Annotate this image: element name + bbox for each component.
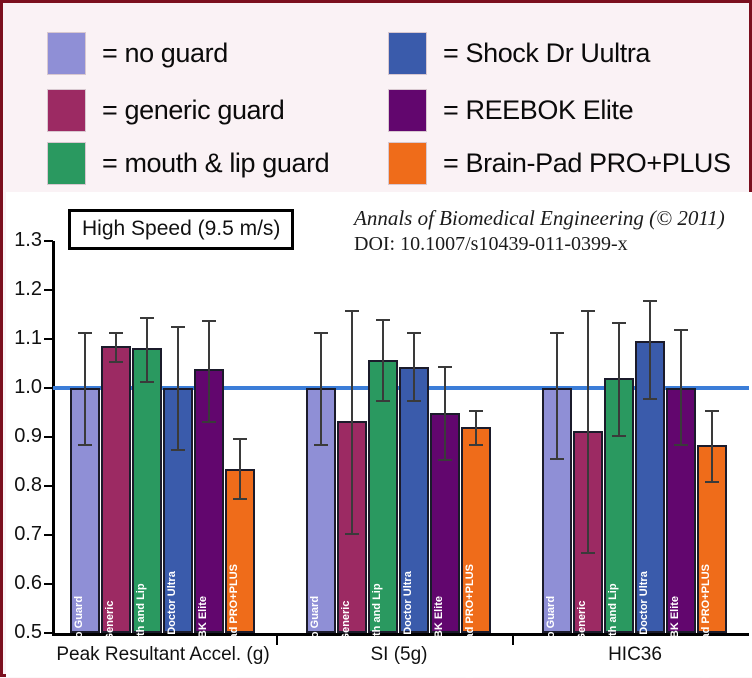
legend-item-reebok: = REEBOK Elite [388,89,633,132]
error-bar-cap-lower [705,481,719,483]
error-bar-line [115,332,117,361]
error-bar-cap-upper [643,300,657,302]
y-tick-label: 0.9 [6,426,42,446]
error-bar-line [649,300,651,398]
legend-label-brain_pad: = Brain-Pad PRO+PLUS [443,148,731,179]
error-bar-line [320,332,322,445]
error-bar-cap-lower [140,381,154,383]
bar-inline-label: No Guard [545,596,557,646]
error-bar-line [587,310,589,553]
error-bar-cap-lower [469,444,483,446]
y-tick-label: 1.1 [6,328,42,348]
error-bar-cap-lower [202,421,216,423]
error-bar-cap-lower [376,400,390,402]
bar-inline-label: No Guard [309,596,321,646]
figure-root: = no guard= generic guard= mouth & lip g… [0,0,752,677]
error-bar-line [475,410,477,444]
legend-item-mouth_lip: = mouth & lip guard [47,142,329,185]
error-bar-cap-lower [109,361,123,363]
error-bar-cap-upper [612,322,626,324]
error-bar-cap-lower [550,458,564,460]
error-bar-line [84,332,86,445]
error-bar-cap-lower [314,444,328,446]
legend-label-mouth_lip: = mouth & lip guard [102,148,329,179]
legend-swatch-no_guard [47,32,86,75]
error-bar-line [146,317,148,381]
bar-inline-label: No Guard [73,596,85,646]
error-bar-cap-lower [407,400,421,402]
legend-swatch-reebok [388,89,427,132]
legend-swatch-generic [47,89,86,132]
error-bar-line [208,320,210,421]
error-bar-line [177,326,179,449]
bar-1-mouth-and-lip: Mouth and Lip [132,348,162,633]
error-bar-line [382,319,384,400]
error-bar-line [413,332,415,401]
legend-item-shock_dr: = Shock Dr Uultra [388,32,650,75]
legend-panel: = no guard= generic guard= mouth & lip g… [3,3,749,189]
x-axis-line [52,633,749,636]
error-bar-line [556,332,558,458]
error-bar-cap-upper [674,329,688,331]
legend-swatch-mouth_lip [47,142,86,185]
y-tick-label: 1.2 [6,279,42,299]
x-axis-group-label: HIC36 [487,644,752,666]
y-tick-mark [44,387,53,389]
y-tick-mark [44,338,53,340]
x-tick-mark [512,636,514,645]
y-tick-label: 0.8 [6,475,42,495]
plot-area: 1.31.21.11.00.90.80.70.60.5No GuardGener… [6,192,752,677]
citation-journal: Annals of Biomedical Engineering (© 2011… [354,206,748,231]
error-bar-line [239,438,241,498]
error-bar-cap-upper [705,410,719,412]
y-tick-label: 0.7 [6,524,42,544]
y-tick-label: 0.6 [6,573,42,593]
bar-inline-label: RBK Elite [669,596,681,646]
citation-doi: DOI: 10.1007/s10439-011-0399-x [354,233,748,256]
error-bar-cap-upper [78,332,92,334]
bar-inline-label: RBK Elite [197,596,209,646]
error-bar-cap-upper [469,410,483,412]
error-bar-cap-upper [233,438,247,440]
y-tick-mark [44,632,53,634]
error-bar-cap-upper [202,320,216,322]
error-bar-cap-upper [171,326,185,328]
error-bar-cap-upper [550,332,564,334]
error-bar-line [618,322,620,435]
error-bar-cap-lower [438,459,452,461]
error-bar-line [711,410,713,481]
bar-inline-label: RBK Elite [433,596,445,646]
error-bar-cap-upper [345,310,359,312]
legend-item-generic: = generic guard [47,89,284,132]
bar-2-shock-doctor-ultra: Shock Doctor Ultra [399,367,429,633]
error-bar-cap-upper [376,319,390,321]
error-bar-cap-lower [581,552,595,554]
error-bar-cap-upper [407,332,421,334]
legend-label-generic: = generic guard [102,95,284,126]
error-bar-cap-upper [438,366,452,368]
legend-label-shock_dr: = Shock Dr Uultra [443,38,650,69]
legend-swatch-shock_dr [388,32,427,75]
error-bar-line [680,329,682,444]
legend-label-reebok: = REEBOK Elite [443,95,633,126]
bar-1-generic: Generic [101,346,131,633]
error-bar-line [444,366,446,459]
error-bar-cap-lower [233,498,247,500]
y-tick-mark [44,240,53,242]
y-tick-mark [44,534,53,536]
error-bar-cap-upper [109,332,123,334]
y-tick-label: 0.5 [6,622,42,642]
y-tick-mark [44,436,53,438]
legend-item-no_guard: = no guard [47,32,228,75]
error-bar-cap-lower [674,444,688,446]
x-tick-mark [276,636,278,645]
chart-panel: 1.31.21.11.00.90.80.70.60.5No GuardGener… [6,192,752,677]
citation-block: Annals of Biomedical Engineering (© 2011… [354,206,748,256]
y-tick-mark [44,485,53,487]
legend-label-no_guard: = no guard [102,38,228,69]
speed-annotation-box: High Speed (9.5 m/s) [68,209,294,250]
legend-item-brain_pad: = Brain-Pad PRO+PLUS [388,142,731,185]
error-bar-cap-upper [314,332,328,334]
y-tick-mark [44,289,53,291]
error-bar-cap-lower [345,533,359,535]
y-tick-label: 1.3 [6,230,42,250]
error-bar-cap-lower [612,435,626,437]
error-bar-cap-upper [581,310,595,312]
error-bar-cap-lower [171,449,185,451]
error-bar-cap-upper [140,317,154,319]
error-bar-cap-lower [643,398,657,400]
legend-swatch-brain_pad [388,142,427,185]
bar-2-brain-pad-pro-plus: Brain Pad PRO+PLUS [461,427,491,633]
error-bar-line [351,310,353,533]
y-tick-mark [44,583,53,585]
error-bar-cap-lower [78,444,92,446]
y-tick-label: 1.0 [6,377,42,397]
